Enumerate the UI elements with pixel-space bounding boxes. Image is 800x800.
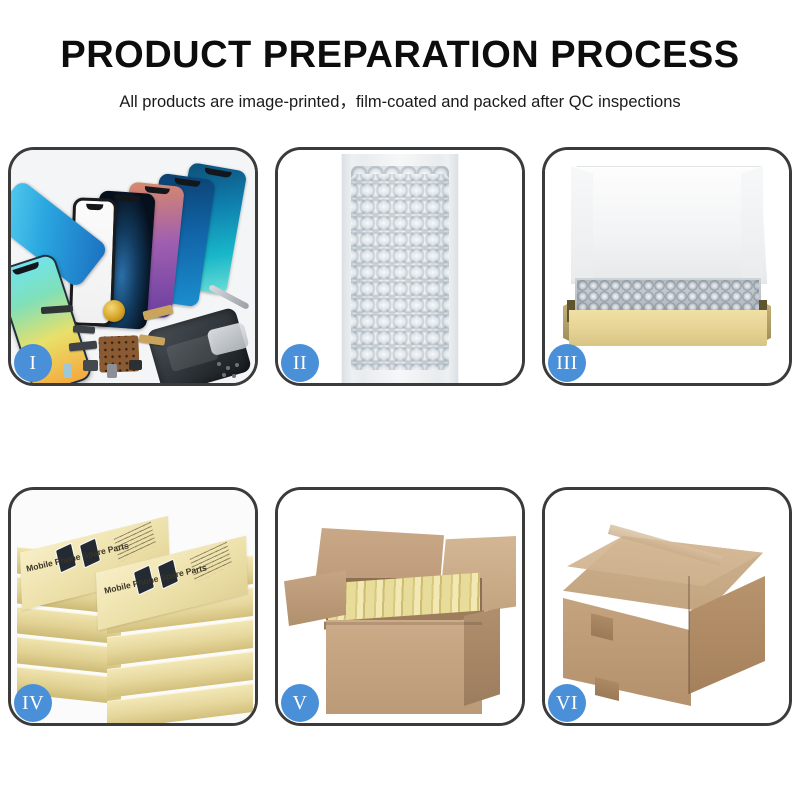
screws-icon <box>217 362 243 378</box>
step-panel-2[interactable]: II <box>275 147 525 386</box>
step-badge-6: VI <box>548 684 586 722</box>
box-front-icon <box>569 310 767 346</box>
box-lid-flap-icon <box>571 166 593 294</box>
connector-part-icon <box>73 325 95 334</box>
small-part-icon <box>63 364 72 378</box>
step-panel-1[interactable]: I <box>8 147 258 386</box>
process-steps-grid: I II <box>8 147 792 726</box>
carton-edge-line <box>688 576 690 694</box>
stacked-boxes-image: Mobile Phone Spare Parts Mobile Phone Sp… <box>11 490 255 723</box>
open-inner-box-image <box>545 150 789 383</box>
product-preparation-infographic: PRODUCT PREPARATION PROCESS All products… <box>0 0 800 800</box>
small-part-icon <box>129 360 142 370</box>
bubble-bundle-icon <box>577 280 759 312</box>
step-badge-5: V <box>281 684 319 722</box>
step-panel-6[interactable]: VI <box>542 487 792 726</box>
header: PRODUCT PREPARATION PROCESS All products… <box>0 36 800 112</box>
page-title: PRODUCT PREPARATION PROCESS <box>0 36 800 76</box>
step-badge-3: III <box>548 344 586 382</box>
carton-body-icon <box>326 620 482 714</box>
open-carton-image <box>278 490 522 723</box>
step-badge-2: II <box>281 344 319 382</box>
small-part-icon <box>83 360 98 371</box>
box-lid-icon <box>571 166 767 284</box>
step-badge-1: I <box>14 344 52 382</box>
step-panel-4[interactable]: Mobile Phone Spare Parts Mobile Phone Sp… <box>8 487 258 726</box>
step-panel-3[interactable]: III <box>542 147 792 386</box>
step-badge-4: IV <box>14 684 52 722</box>
bubble-wrap-image <box>278 150 522 383</box>
page-subtitle: All products are image-printed，film-coat… <box>0 88 800 112</box>
speaker-coil-icon <box>103 300 125 322</box>
phone-parts-image <box>11 150 255 383</box>
step-panel-5[interactable]: V <box>275 487 525 726</box>
box-lid-flap-icon <box>741 166 763 294</box>
carton-fold-line <box>326 622 482 625</box>
bubble-wrap-icon <box>351 174 449 370</box>
small-part-icon <box>107 364 117 378</box>
sealed-carton-image <box>545 490 789 723</box>
film-edge-icon <box>448 154 458 383</box>
